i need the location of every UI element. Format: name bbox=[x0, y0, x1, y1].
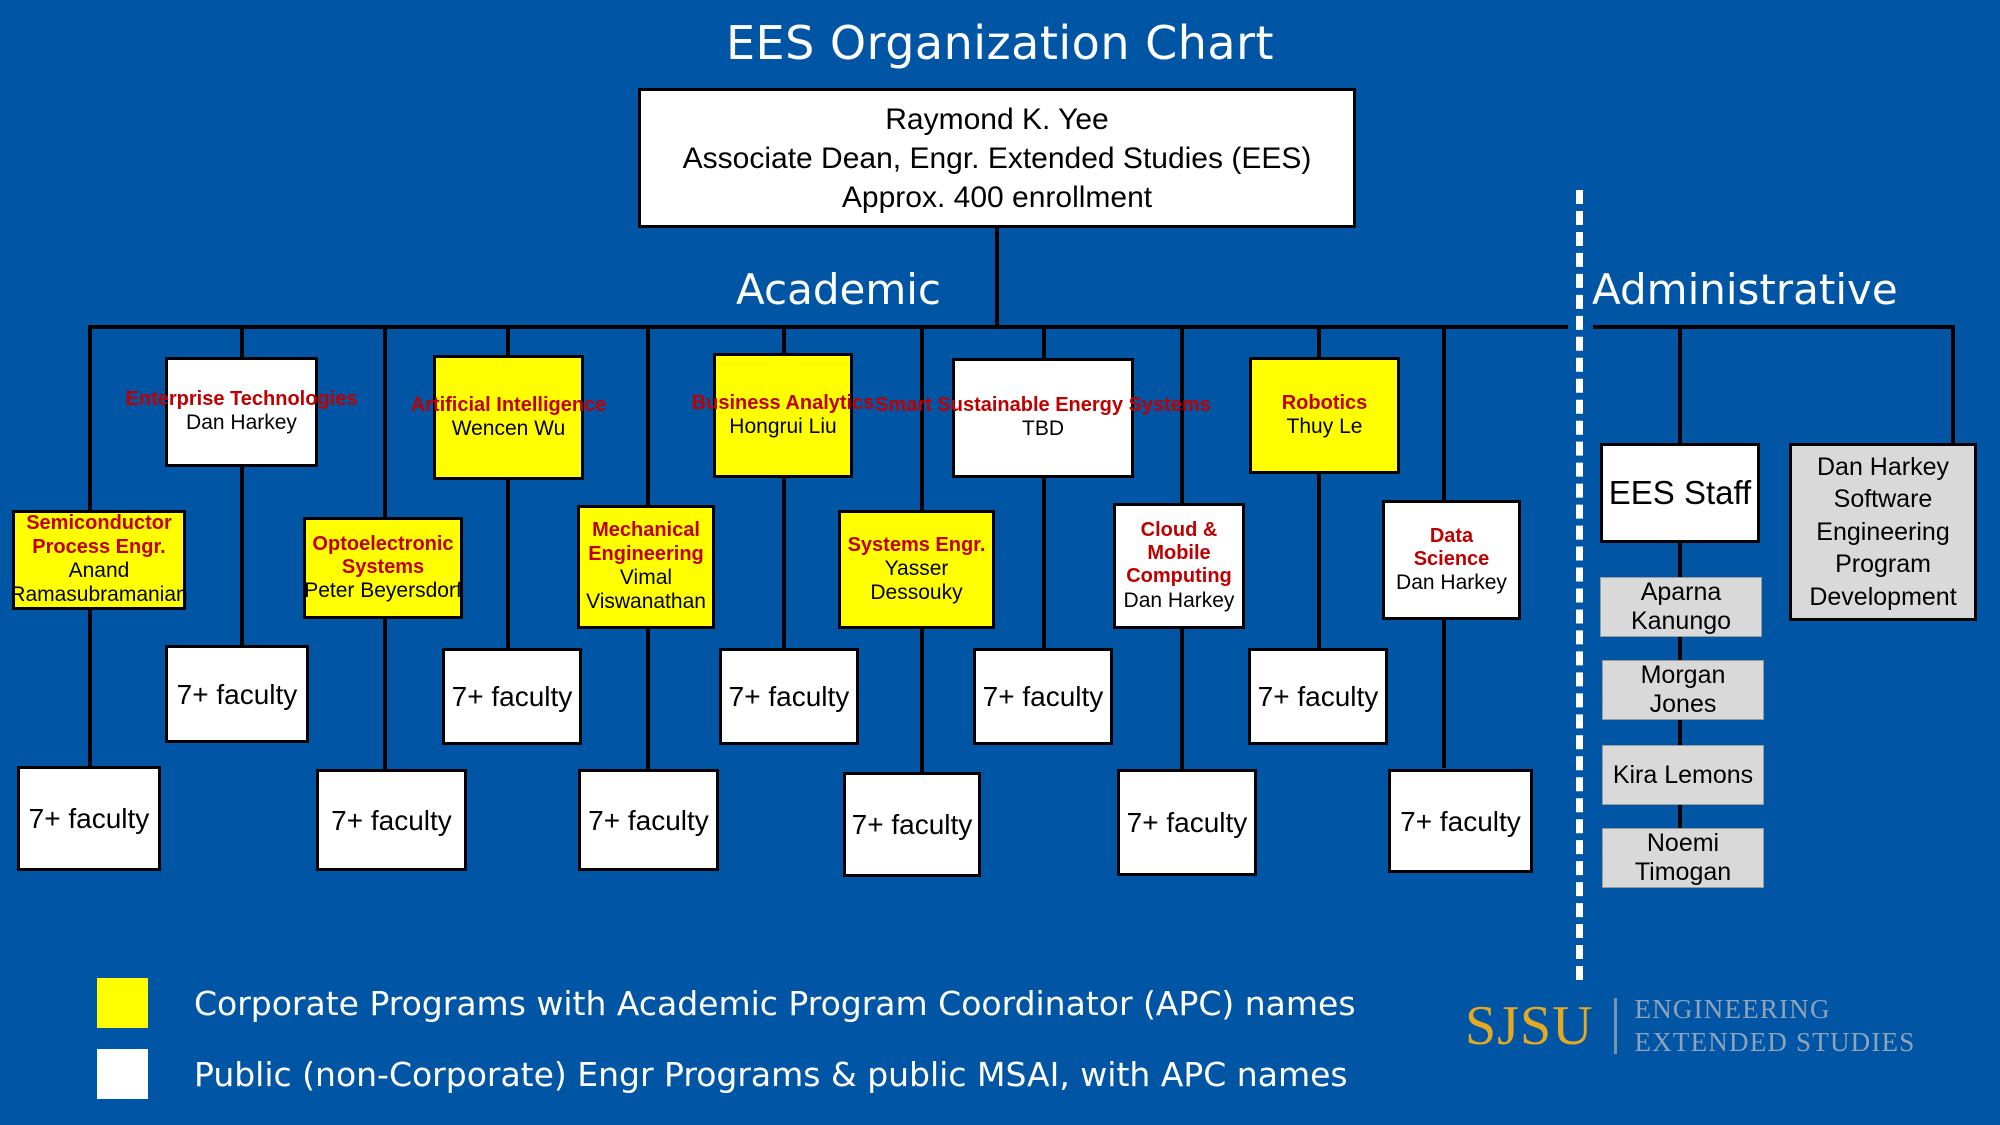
program-title: Artificial Intelligence bbox=[411, 394, 607, 417]
program-box-cloud-mobile-computing[interactable]: Cloud & Mobile Computing Dan Harkey bbox=[1113, 503, 1245, 629]
connector-drop-smart-energy bbox=[1042, 325, 1046, 358]
sjsu-wordmark: SJSU bbox=[1465, 998, 1594, 1054]
sjsu-logo-line2: EXTENDED STUDIES bbox=[1635, 1026, 1916, 1059]
faculty-count: 7+ faculty bbox=[177, 677, 298, 712]
page-title: EES Organization Chart bbox=[0, 16, 2000, 70]
program-coordinator: TBD bbox=[1022, 417, 1064, 441]
connector-mechanical-to-faculty bbox=[646, 627, 650, 769]
program-title: Robotics bbox=[1282, 392, 1368, 415]
program-box-robotics[interactable]: Robotics Thuy Le bbox=[1249, 357, 1400, 474]
connector-drop-optoelectronic bbox=[383, 325, 387, 517]
program-coordinator: Yasser Dessouky bbox=[852, 557, 982, 606]
faculty-box[interactable]: 7+ faculty bbox=[17, 766, 161, 871]
program-coordinator: Anand Ramasubramanian bbox=[8, 559, 190, 608]
faculty-box[interactable]: 7+ faculty bbox=[165, 645, 309, 743]
program-box-artificial-intelligence[interactable]: Artificial Intelligence Wencen Wu bbox=[433, 355, 584, 480]
program-box-data-science[interactable]: Data Science Dan Harkey bbox=[1382, 500, 1521, 620]
connector-drop-mechanical bbox=[646, 325, 650, 505]
connector-cloud-to-faculty bbox=[1180, 627, 1184, 769]
connector-drop-ees-staff bbox=[1678, 325, 1682, 444]
connector-drop-systems-engr bbox=[920, 325, 924, 510]
connector-enterprise-to-faculty bbox=[240, 465, 244, 645]
faculty-count: 7+ faculty bbox=[729, 679, 850, 714]
faculty-box[interactable]: 7+ faculty bbox=[843, 772, 981, 877]
program-coordinator: Dan Harkey bbox=[186, 411, 297, 435]
faculty-count: 7+ faculty bbox=[1258, 679, 1379, 714]
program-box-smart-sustainable-energy-systems[interactable]: Smart Sustainable Energy Systems TBD bbox=[952, 358, 1134, 478]
faculty-count: 7+ faculty bbox=[983, 679, 1104, 714]
faculty-box[interactable]: 7+ faculty bbox=[442, 648, 582, 745]
connector-bus-administrative bbox=[1593, 325, 1953, 329]
connector-root-stem bbox=[995, 228, 999, 328]
connector-semiconductor-to-faculty bbox=[88, 608, 92, 768]
connector-drop-enterprise bbox=[240, 325, 244, 357]
connector-bus-academic bbox=[88, 325, 1568, 329]
legend-swatch-public bbox=[96, 1048, 149, 1100]
legend-label-corporate: Corporate Programs with Academic Program… bbox=[194, 984, 1356, 1023]
faculty-box[interactable]: 7+ faculty bbox=[973, 648, 1113, 745]
program-box-semiconductor-process-engr[interactable]: Semiconductor Process Engr. Anand Ramasu… bbox=[12, 510, 186, 610]
connector-drop-robotics bbox=[1317, 325, 1321, 357]
program-title: Systems Engr. bbox=[848, 534, 986, 557]
sjsu-logo-line1: ENGINEERING bbox=[1635, 993, 1916, 1026]
program-title: Mechanical Engineering bbox=[580, 519, 712, 565]
ees-staff-label: EES Staff bbox=[1609, 475, 1751, 511]
faculty-box[interactable]: 7+ faculty bbox=[719, 648, 859, 745]
faculty-count: 7+ faculty bbox=[331, 803, 452, 838]
faculty-count: 7+ faculty bbox=[452, 679, 573, 714]
staff-box[interactable]: Kira Lemons bbox=[1602, 745, 1764, 805]
legend-row-corporate: Corporate Programs with Academic Program… bbox=[96, 977, 1356, 1029]
root-name: Raymond K. Yee bbox=[885, 100, 1109, 139]
program-box-business-analytics[interactable]: Business Analytics Hongrui Liu bbox=[713, 353, 853, 478]
faculty-count: 7+ faculty bbox=[29, 801, 150, 836]
legend-row-public: Public (non-Corporate) Engr Programs & p… bbox=[96, 1048, 1348, 1100]
program-coordinator: Peter Beyersdorf bbox=[304, 579, 462, 603]
faculty-box[interactable]: 7+ faculty bbox=[316, 769, 467, 871]
program-box-mechanical-engineering[interactable]: Mechanical Engineering Vimal Viswanathan bbox=[577, 505, 715, 629]
root-enrollment: Approx. 400 enrollment bbox=[842, 178, 1152, 217]
connector-drop-semiconductor bbox=[88, 325, 92, 510]
program-title: Enterprise Technologies bbox=[126, 388, 358, 411]
section-label-academic: Academic bbox=[736, 265, 941, 314]
program-coordinator: Thuy Le bbox=[1287, 415, 1363, 439]
program-development-box[interactable]: Dan Harkey Software Engineering Program … bbox=[1789, 443, 1977, 621]
ees-staff-box[interactable]: EES Staff bbox=[1600, 443, 1760, 543]
connector-systems-to-faculty bbox=[920, 627, 924, 772]
staff-box[interactable]: Morgan Jones bbox=[1602, 660, 1764, 720]
faculty-count: 7+ faculty bbox=[1400, 804, 1521, 839]
staff-box[interactable]: Noemi Timogan bbox=[1602, 828, 1764, 888]
connector-drop-business-analytics bbox=[782, 325, 786, 353]
faculty-count: 7+ faculty bbox=[588, 803, 709, 838]
connector-ai-to-faculty bbox=[506, 478, 510, 648]
staff-name: Noemi Timogan bbox=[1608, 829, 1758, 887]
sjsu-logo-subtitle: ENGINEERING EXTENDED STUDIES bbox=[1635, 993, 1916, 1059]
section-label-administrative: Administrative bbox=[1592, 265, 1898, 314]
staff-box[interactable]: Aparna Kanungo bbox=[1600, 577, 1762, 637]
connector-drop-data-science bbox=[1442, 325, 1446, 500]
program-title: Smart Sustainable Energy Systems bbox=[875, 394, 1211, 417]
faculty-box[interactable]: 7+ faculty bbox=[1248, 648, 1388, 745]
faculty-box[interactable]: 7+ faculty bbox=[1117, 769, 1257, 876]
program-development-name: Dan Harkey bbox=[1817, 451, 1949, 484]
connector-business-to-faculty bbox=[782, 476, 786, 648]
connector-robotics-to-faculty bbox=[1317, 472, 1321, 648]
staff-name: Morgan Jones bbox=[1608, 661, 1758, 719]
connector-energy-to-faculty bbox=[1042, 476, 1046, 648]
root-role: Associate Dean, Engr. Extended Studies (… bbox=[683, 139, 1312, 178]
program-development-description: Software Engineering Program Development bbox=[1798, 483, 1968, 613]
program-coordinator: Dan Harkey bbox=[1124, 589, 1235, 613]
connector-drop-artificial-intelligence bbox=[506, 325, 510, 355]
program-coordinator: Vimal Viswanathan bbox=[578, 566, 714, 615]
program-title: Optoelectronic Systems bbox=[308, 533, 458, 579]
program-title: Business Analytics bbox=[692, 392, 875, 415]
root-node-associate-dean: Raymond K. Yee Associate Dean, Engr. Ext… bbox=[638, 88, 1356, 228]
faculty-box[interactable]: 7+ faculty bbox=[1388, 769, 1533, 873]
sjsu-logo-divider bbox=[1614, 998, 1617, 1054]
program-title: Data Science bbox=[1397, 525, 1507, 571]
sjsu-logo: SJSU ENGINEERING EXTENDED STUDIES bbox=[1465, 993, 1915, 1059]
connector-drop-program-development bbox=[1951, 325, 1955, 443]
program-box-optoelectronic-systems[interactable]: Optoelectronic Systems Peter Beyersdorf bbox=[303, 517, 463, 619]
academic-administrative-divider bbox=[1576, 190, 1583, 980]
program-coordinator: Wencen Wu bbox=[452, 417, 566, 441]
legend-swatch-corporate bbox=[96, 977, 149, 1029]
program-coordinator: Hongrui Liu bbox=[729, 415, 836, 439]
program-box-enterprise-technologies[interactable]: Enterprise Technologies Dan Harkey bbox=[165, 357, 318, 467]
program-title: Cloud & Mobile Computing bbox=[1117, 519, 1241, 589]
faculty-count: 7+ faculty bbox=[1127, 805, 1248, 840]
connector-datascience-to-faculty bbox=[1442, 618, 1446, 768]
program-box-systems-engr[interactable]: Systems Engr. Yasser Dessouky bbox=[838, 510, 995, 629]
staff-name: Kira Lemons bbox=[1608, 761, 1758, 790]
faculty-box[interactable]: 7+ faculty bbox=[578, 769, 719, 871]
legend-label-public: Public (non-Corporate) Engr Programs & p… bbox=[194, 1055, 1348, 1094]
program-coordinator: Dan Harkey bbox=[1396, 571, 1507, 595]
staff-name: Aparna Kanungo bbox=[1606, 578, 1756, 636]
faculty-count: 7+ faculty bbox=[852, 807, 973, 842]
connector-optoelectronic-to-faculty bbox=[383, 617, 387, 769]
org-chart-canvas: EES Organization Chart Raymond K. Yee As… bbox=[0, 0, 2000, 1125]
program-title: Semiconductor Process Engr. bbox=[19, 512, 179, 558]
